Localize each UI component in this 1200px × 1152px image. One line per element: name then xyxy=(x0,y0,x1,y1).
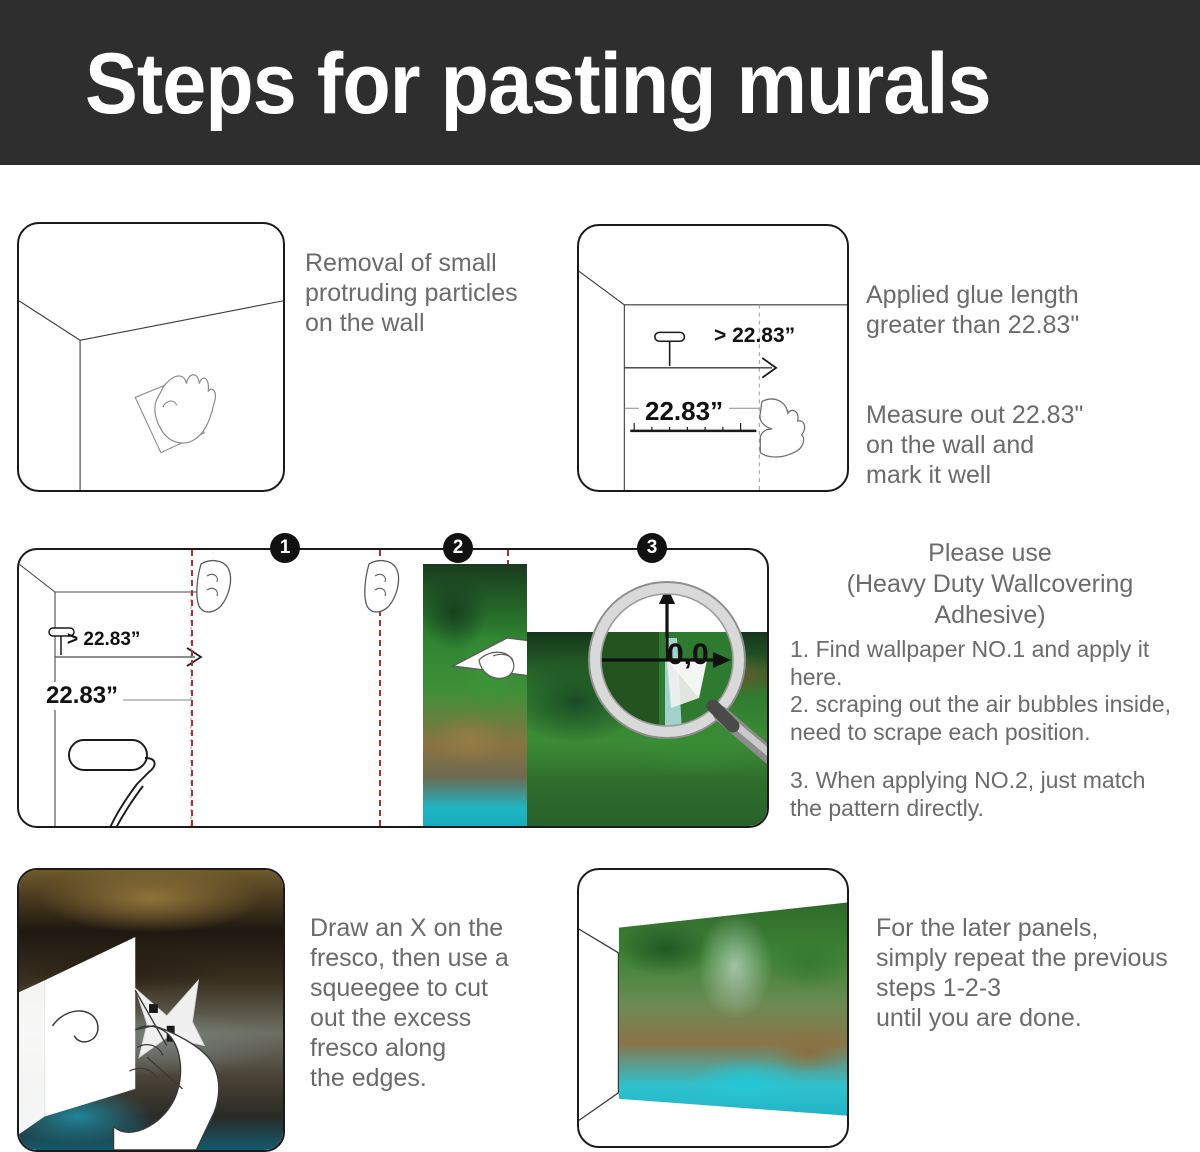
finished-mural-photo xyxy=(619,902,849,1116)
panel-prep-wall xyxy=(17,222,285,492)
header-banner: Steps for pasting murals xyxy=(0,0,1200,165)
wallpaper-strip-2 xyxy=(423,564,527,828)
panel-apply-wallpaper: > 22.83” 22.83” xyxy=(17,548,769,828)
adhesive-note: Please use (Heavy Duty Wallcovering Adhe… xyxy=(790,538,1190,631)
label-glue-length-2: > 22.83” xyxy=(67,629,140,651)
page-title: Steps for pasting murals xyxy=(85,34,991,134)
wallpaper-strip-1 xyxy=(217,560,369,828)
guide-line-1 xyxy=(191,550,193,826)
caption-measure-wall: Measure out 22.83" on the wall and mark … xyxy=(866,400,1176,490)
panel-measure-wall: > 22.83” 22.83” xyxy=(577,224,849,492)
measure-wall-icon xyxy=(579,226,847,490)
adhesive-line-1: Please use xyxy=(790,538,1190,569)
step-text-3: 3. When applying NO.2, just match the pa… xyxy=(790,766,1190,822)
panel-trim-edges xyxy=(17,868,285,1152)
adhesive-line-2: (Heavy Duty Wallcovering Adhesive) xyxy=(790,569,1190,631)
caption-prep-wall: Removal of small protruding particles on… xyxy=(305,248,567,338)
trim-icons xyxy=(19,870,283,1150)
instruction-sheet: Steps for pasting murals Removal of smal… xyxy=(0,0,1200,1152)
step-text-1: 1. Find wallpaper NO.1 and apply it here… xyxy=(790,635,1190,691)
paint-roller-icon xyxy=(69,740,155,828)
label-measure-length: 22.83” xyxy=(639,396,729,427)
hand-icon xyxy=(195,556,235,618)
hand-icon xyxy=(760,399,805,457)
step-badge-1: 1 xyxy=(270,533,300,563)
paint-roller-icon xyxy=(655,332,685,365)
step-text-2: 2. scraping out the air bubbles inside, … xyxy=(790,690,1190,746)
hand-icon xyxy=(363,556,403,618)
wall-corner-icon xyxy=(19,224,283,490)
hand-icon xyxy=(155,375,215,443)
caption-finished-wall: For the later panels, simply repeat the … xyxy=(876,913,1200,1033)
panel-finished-wall xyxy=(577,868,849,1148)
step-badge-2: 2 xyxy=(443,533,473,563)
label-glue-length: > 22.83” xyxy=(714,324,795,348)
caption-trim-edges: Draw an X on the fresco, then use a sque… xyxy=(310,913,560,1093)
caption-glue-length: Applied glue length greater than 22.83" xyxy=(866,280,1166,340)
step-badge-3: 3 xyxy=(637,533,667,563)
label-measure-length-2: 22.83” xyxy=(41,682,123,710)
label-origin: 0,0 xyxy=(667,638,709,672)
